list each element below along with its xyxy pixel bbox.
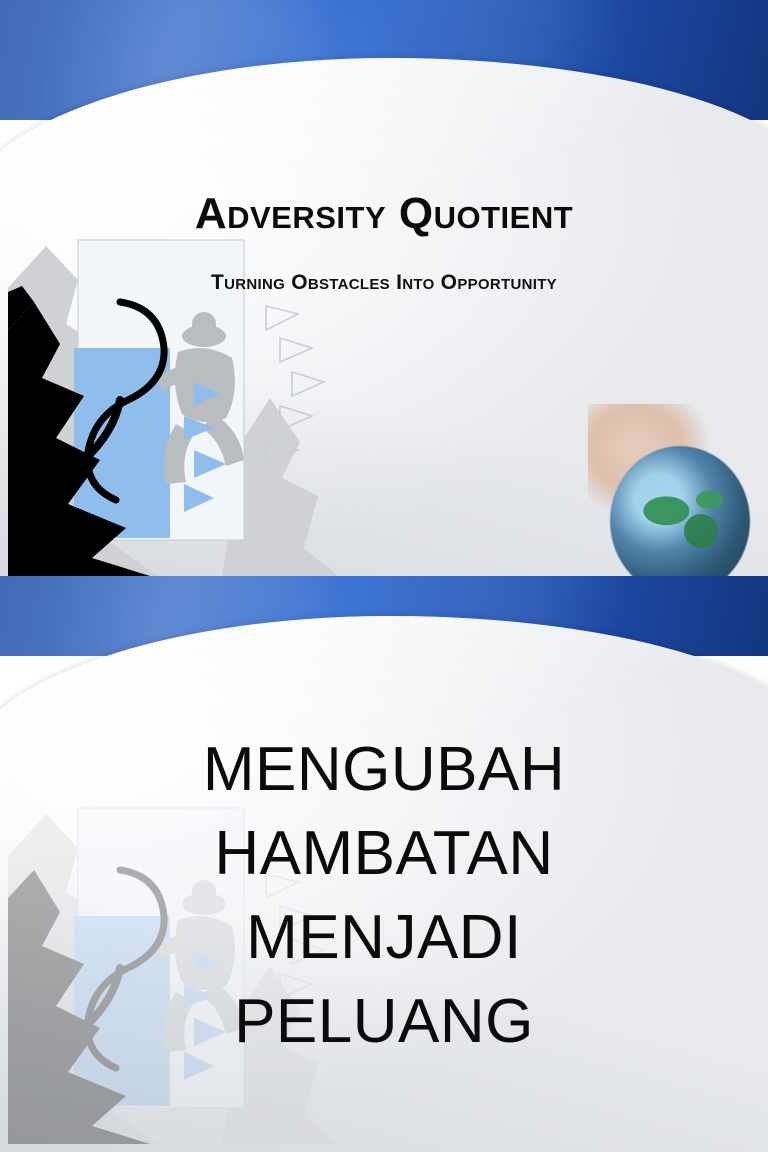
body-line-4: PELUANG — [0, 980, 768, 1064]
body-line-2: HAMBATAN — [0, 812, 768, 896]
body-line-1: MENGUBAH — [0, 728, 768, 812]
slide-2: MENGUBAH HAMBATAN MENJADI PELUANG — [0, 576, 768, 1152]
slide-2-body: MENGUBAH HAMBATAN MENJADI PELUANG — [0, 728, 768, 1064]
page-title: Adversity Quotient — [0, 189, 768, 239]
slide-1: Adversity Quotient Turning Obstacles Int… — [0, 0, 768, 576]
body-line-3: MENJADI — [0, 896, 768, 980]
page-subtitle: Turning Obstacles Into Opportunity — [0, 271, 768, 295]
globe-landmass — [634, 474, 742, 566]
slide-deck: Adversity Quotient Turning Obstacles Int… — [0, 0, 768, 1024]
